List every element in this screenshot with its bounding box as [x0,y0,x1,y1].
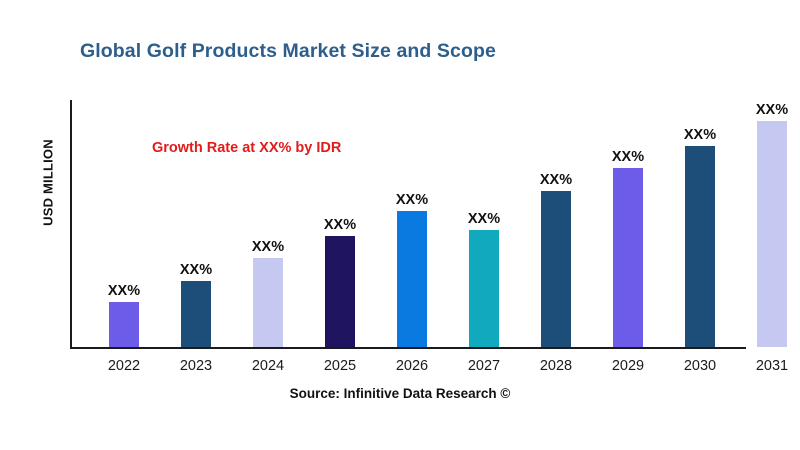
x-tick-label: 2023 [164,358,228,374]
source-note: Source: Infinitive Data Research © [0,386,800,401]
bar [685,146,715,347]
bar [613,168,643,347]
y-axis-label: USD MILLION [41,123,56,243]
bar-group: XX% [236,232,300,347]
bar-group: XX% [740,95,800,347]
bar-value-label: XX% [668,127,732,143]
chart-title: Global Golf Products Market Size and Sco… [80,40,496,63]
x-tick-label: 2028 [524,358,588,374]
bar-group: XX% [308,210,372,347]
bar-value-label: XX% [92,283,156,299]
x-tick-label: 2027 [452,358,516,374]
bar-value-label: XX% [308,217,372,233]
bar-value-label: XX% [452,211,516,227]
bar-value-label: XX% [164,262,228,278]
x-tick-label: 2024 [236,358,300,374]
x-tick-label: 2026 [380,358,444,374]
bar [325,236,355,347]
bar-chart: Global Golf Products Market Size and Sco… [0,0,800,450]
bar-group: XX% [92,276,156,347]
x-tick-label: 2025 [308,358,372,374]
bar-group: XX% [524,165,588,347]
bar [109,302,139,347]
plot-area: Growth Rate at XX% by IDR XX%XX%XX%XX%XX… [70,100,746,349]
x-tick-label: 2029 [596,358,660,374]
x-tick-label: 2030 [668,358,732,374]
x-tick-label: 2031 [740,358,800,374]
bar [541,191,571,347]
bar [181,281,211,347]
bar-value-label: XX% [596,149,660,165]
bar-group: XX% [164,255,228,347]
bar-group: XX% [380,185,444,347]
bar [469,230,499,347]
x-axis-line [70,347,746,349]
bar-value-label: XX% [236,239,300,255]
y-axis-line [70,100,72,349]
growth-rate-annotation: Growth Rate at XX% by IDR [152,140,341,156]
x-tick-label: 2022 [92,358,156,374]
bar-group: XX% [452,204,516,347]
bar [253,258,283,347]
bar [397,211,427,347]
bar [757,121,787,347]
bar-value-label: XX% [380,192,444,208]
bar-group: XX% [596,142,660,347]
bar-value-label: XX% [524,172,588,188]
bar-value-label: XX% [740,102,800,118]
bar-group: XX% [668,120,732,347]
